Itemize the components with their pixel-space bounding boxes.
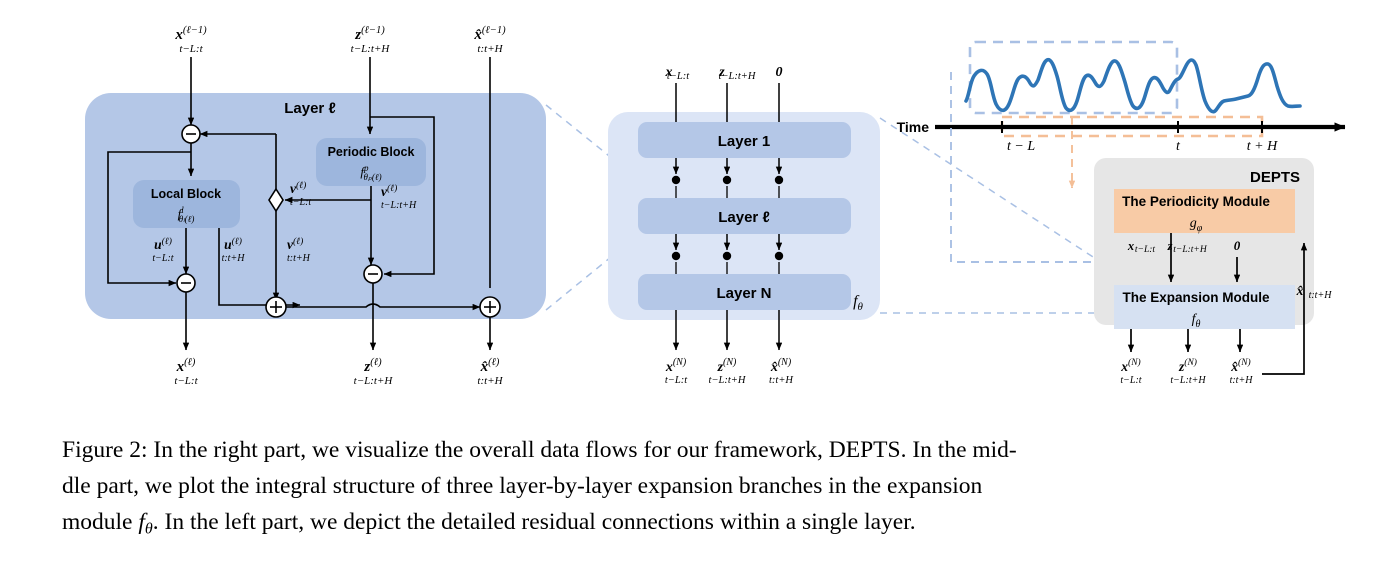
left-output-z: z(ℓ) t−L:t+H [354,357,394,387]
right-output-x: x(N) t−L:t [1120,357,1142,386]
svg-text:DEPTS: DEPTS [1250,169,1300,186]
caption-ftheta-sub: θ [145,520,153,537]
time-axis: Time t − L t t + H [897,119,1345,154]
left-input-x: x(ℓ−1) t−L:t [174,25,207,55]
minus-op-z [364,265,382,283]
svg-text:t−L:t: t−L:t [179,43,203,55]
local-block: Local Block flθₗ(ℓ) [133,180,240,228]
svg-text:t:t+H: t:t+H [1309,290,1333,301]
svg-text:t−L:t: t−L:t [290,197,311,208]
left-input-z: z(ℓ−1) t−L:t+H [351,25,391,55]
diagram-svg: Layer ℓ x(ℓ−1) t−L:t z(ℓ−1) t−L:t+H x̂(ℓ… [0,0,1379,420]
svg-text:x(ℓ−1): x(ℓ−1) [174,25,207,43]
svg-text:t−L:t+H: t−L:t+H [381,200,417,211]
svg-text:t:t+H: t:t+H [769,375,794,386]
svg-text:x̂(N): x̂(N) [1230,357,1250,374]
svg-text:Layer 1: Layer 1 [718,133,771,150]
right-panel: Time t − L t t + H DEPTS [897,42,1345,386]
svg-text:t−L:t: t−L:t [665,375,688,386]
svg-text:t−L:t+H: t−L:t+H [354,375,394,387]
svg-text:t−L:t: t−L:t [1120,375,1141,386]
right-mid-label-zero: 0 [1234,238,1241,253]
svg-text:t−L:t: t−L:t [667,71,690,82]
svg-text:t + H: t + H [1247,139,1278,154]
mid-input-x: x t−L:t [665,65,691,82]
svg-text:Time: Time [897,119,930,135]
caption-line-3-a: module [62,509,138,535]
svg-text:t − L: t − L [1007,139,1035,154]
plus-op-xhat [480,297,500,317]
svg-text:The Periodicity Module: The Periodicity Module [1122,194,1270,209]
svg-text:x̂: x̂ [1296,283,1304,298]
svg-text:x̂(ℓ): x̂(ℓ) [480,357,500,375]
svg-text:t:t+H: t:t+H [1230,375,1254,386]
svg-text:t:t+H: t:t+H [477,375,503,387]
svg-text:z(ℓ−1): z(ℓ−1) [354,25,385,43]
periodicity-module: The Periodicity Module gφ [1114,189,1295,234]
caption-line-3-b: . In the left part, we depict the detail… [153,509,916,535]
svg-text:x(N): x(N) [1120,357,1140,374]
svg-text:t−L:t: t−L:t [152,253,173,264]
mid-output-z: z(N) t−L:t+H [709,357,747,386]
left-output-xhat: x̂(ℓ) t:t+H [477,357,503,387]
caption-line-2: dle part, we plot the integral structure… [62,468,1320,504]
caption-line-1: Figure 2: In the right part, we visualiz… [62,432,1320,468]
layer-bar-N: Layer N [638,274,851,310]
right-output-xhat: x̂(N) t:t+H [1230,357,1254,386]
periodic-block: Periodic Block fpθₚ(ℓ) [316,138,426,186]
svg-text:t:t+H: t:t+H [477,43,503,55]
mid-input-zero: 0 [776,65,783,80]
mid-output-x: x(N) t−L:t [665,357,688,386]
left-output-x: x(ℓ) t−L:t [174,357,198,387]
figure-caption: Figure 2: In the right part, we visualiz… [62,432,1320,547]
svg-text:Layer N: Layer N [716,285,771,302]
svg-text:Layer ℓ: Layer ℓ [718,209,770,226]
minus-op-x-out [177,274,195,292]
svg-text:t−L:t: t−L:t [174,375,198,387]
svg-text:x: x [1127,239,1134,253]
zoom-connector-right [880,118,1113,313]
expansion-module: The Expansion Module fθ [1114,285,1295,330]
svg-text:z(N): z(N) [717,357,737,375]
svg-text:x(N): x(N) [665,357,687,375]
svg-text:The Expansion Module: The Expansion Module [1122,290,1270,305]
svg-text:t−L:t+H: t−L:t+H [1170,375,1206,386]
svg-text:x̂(N): x̂(N) [770,357,792,375]
svg-text:Local Block: Local Block [151,187,221,201]
svg-text:Periodic Block: Periodic Block [328,145,415,159]
left-panel: Layer ℓ x(ℓ−1) t−L:t z(ℓ−1) t−L:t+H x̂(ℓ… [85,25,546,387]
svg-text:t:t+H: t:t+H [222,253,246,264]
svg-text:x̂(ℓ−1): x̂(ℓ−1) [473,25,506,43]
layer-bar-ell: Layer ℓ [638,198,851,234]
left-input-xhat: x̂(ℓ−1) t:t+H [473,25,506,55]
middle-panel: x t−L:t z t−L:t+H 0 Layer [608,65,880,386]
figure-container: Layer ℓ x(ℓ−1) t−L:t z(ℓ−1) t−L:t+H x̂(ℓ… [0,0,1379,584]
right-output-z: z(N) t−L:t+H [1170,357,1206,386]
svg-text:t−L:t: t−L:t [1135,245,1155,255]
caption-line-3: module fθ. In the left part, we depict t… [62,504,1320,547]
left-panel-title: Layer ℓ [284,100,336,117]
mid-input-z: z t−L:t+H [718,65,757,82]
svg-text:0: 0 [776,65,783,80]
svg-text:x(ℓ): x(ℓ) [176,357,196,375]
svg-text:t−L:t+H: t−L:t+H [1173,245,1208,255]
plus-op-z [266,297,286,317]
lookback-window-box [970,42,1177,113]
minus-op-x-in [182,125,200,143]
timeseries-waveform [966,60,1300,112]
svg-text:t−L:t+H: t−L:t+H [351,43,391,55]
svg-text:t−L:t+H: t−L:t+H [709,375,747,386]
svg-text:t−L:t+H: t−L:t+H [719,71,757,82]
svg-text:t:t+H: t:t+H [287,253,311,264]
mid-output-xhat: x̂(N) t:t+H [769,357,794,386]
svg-text:t: t [1176,139,1181,154]
svg-text:z(N): z(N) [1178,357,1197,374]
svg-text:z(ℓ): z(ℓ) [363,357,382,375]
svg-text:0: 0 [1234,238,1241,253]
layer-bar-1: Layer 1 [638,122,851,158]
